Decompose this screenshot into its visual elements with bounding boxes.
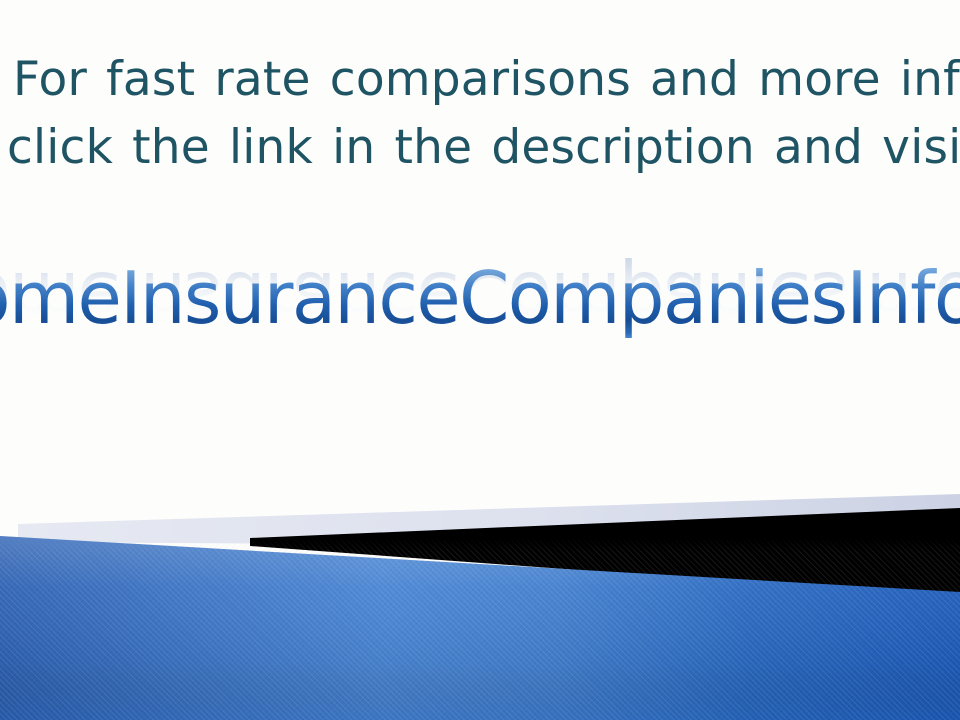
slide-canvas: For fast rate comparisons and more info … [0,0,960,720]
bottom-decorative-banner [0,480,960,720]
banner-shapes [0,480,960,720]
url-wordart-reflection: HomeInsuranceCompaniesInfo.com [0,257,960,338]
headline-text-block: For fast rate comparisons and more info … [0,42,960,182]
headline-line-2: click the link in the description and vi… [7,124,960,171]
url-wordart-block: HomeInsuranceCompaniesInfo.com HomeInsur… [0,258,960,408]
headline-line-1: For fast rate comparisons and more info [13,56,960,103]
